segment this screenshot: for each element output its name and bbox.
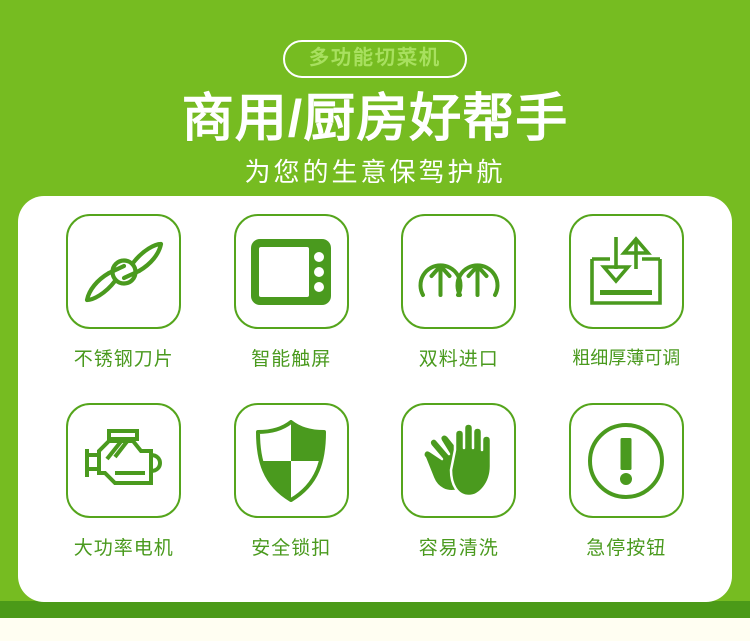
bottom-cream-band	[0, 618, 750, 641]
shield-lock-icon-tile	[234, 403, 349, 518]
feature-label: 粗细厚薄可调	[572, 344, 680, 370]
feature-item: 粗细厚薄可调	[543, 214, 711, 403]
thickness-adjust-icon-tile	[569, 214, 684, 329]
feature-item: 智能触屏	[208, 214, 376, 403]
dual-import-icon-tile	[401, 214, 516, 329]
features-grid: 不锈钢刀片 智能触屏	[18, 196, 732, 602]
hands-wash-icon-tile	[401, 403, 516, 518]
touchscreen-icon	[249, 237, 333, 307]
feature-item: 大功率电机	[40, 403, 208, 592]
promo-header: 多功能切菜机 商用/厨房好帮手 为您的生意保驾护航	[0, 0, 750, 188]
feature-label: 双料进口	[419, 344, 499, 371]
emergency-stop-icon-tile	[569, 403, 684, 518]
product-category-badge: 多功能切菜机	[283, 40, 467, 78]
bottom-dark-band	[0, 601, 750, 618]
feature-item: 安全锁扣	[208, 403, 376, 592]
page-title: 商用/厨房好帮手	[0, 92, 750, 147]
feature-item: 急停按钮	[543, 403, 711, 592]
touchscreen-icon-tile	[234, 214, 349, 329]
feature-item: 容易清洗	[375, 403, 543, 592]
features-card: 不锈钢刀片 智能触屏	[18, 196, 732, 602]
blade-icon-tile	[66, 214, 181, 329]
feature-label: 大功率电机	[74, 533, 174, 560]
feature-label: 急停按钮	[586, 533, 666, 560]
feature-item: 双料进口	[375, 214, 543, 403]
feature-label: 容易清洗	[419, 533, 499, 560]
thickness-adjust-icon	[586, 233, 666, 311]
emergency-stop-icon	[586, 421, 666, 501]
feature-item: 不锈钢刀片	[40, 214, 208, 403]
blade-icon	[81, 232, 167, 312]
dual-import-icon	[416, 237, 502, 307]
engine-icon	[79, 425, 169, 497]
feature-label: 安全锁扣	[251, 533, 331, 560]
engine-icon-tile	[66, 403, 181, 518]
feature-label: 不锈钢刀片	[74, 344, 174, 371]
hands-wash-icon	[415, 420, 503, 502]
page-subtitle: 为您的生意保驾护航	[0, 157, 750, 188]
feature-label: 智能触屏	[251, 344, 331, 371]
shield-lock-icon	[254, 420, 328, 502]
